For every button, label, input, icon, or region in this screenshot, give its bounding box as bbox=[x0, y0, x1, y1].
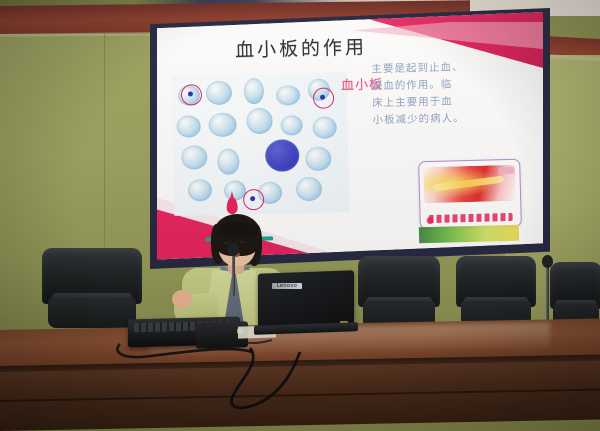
laptop-brand-logo: Lenovo bbox=[272, 283, 302, 289]
slide-body-text: 主要是起到止血、 凝血的作用。临 床上主要用于血 小板减少的病人。 bbox=[371, 59, 493, 130]
platelet-marker-2 bbox=[313, 87, 334, 108]
laptop[interactable]: Lenovo bbox=[258, 272, 354, 334]
slide-bottom-strip bbox=[419, 225, 519, 244]
wall-panel-seam bbox=[104, 34, 105, 264]
platelet-marker-1 bbox=[181, 84, 202, 105]
inset-dot-icon bbox=[427, 217, 434, 224]
microphone-head-icon bbox=[542, 255, 553, 268]
chair-left-1 bbox=[42, 248, 142, 338]
presenter-hand-left bbox=[172, 290, 192, 308]
photo-scene: 血小板的作用 bbox=[0, 0, 600, 431]
slide-inset-photo-card bbox=[418, 159, 522, 230]
podium-microphone bbox=[232, 250, 236, 296]
table-microphone-right bbox=[546, 262, 550, 324]
blood-drop-icon bbox=[226, 197, 237, 214]
presenter-bangs bbox=[217, 222, 257, 237]
slide-title: 血小板的作用 bbox=[235, 32, 368, 62]
blood-cell-micrograph bbox=[172, 72, 350, 216]
slide-body-line-4: 小板减少的病人。 bbox=[372, 110, 492, 130]
microphone-head-icon bbox=[228, 243, 239, 256]
inset-tag bbox=[498, 167, 514, 174]
inset-caption-text bbox=[429, 213, 513, 223]
